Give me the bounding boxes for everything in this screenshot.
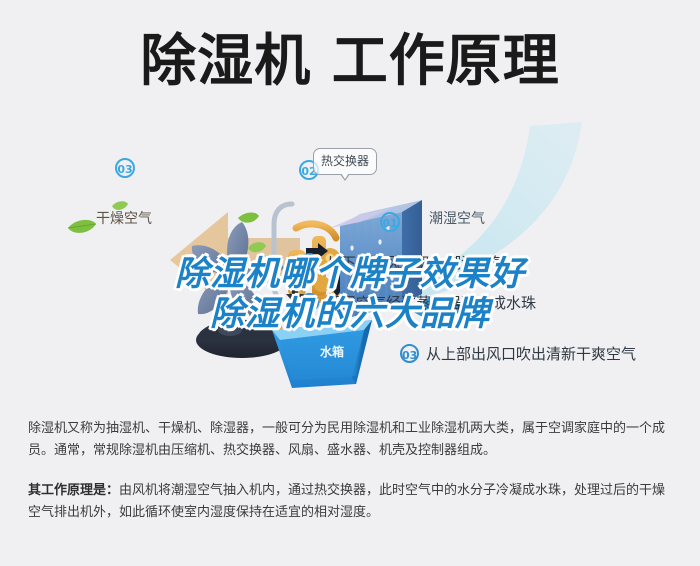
step-line-01: 01 从下部进风口吸入潮湿空气 — [300, 252, 506, 273]
step-line-02: 02 潮湿空气经过蒸发器冷凝成水珠 — [300, 292, 536, 313]
article-paragraph-2: 其工作原理是：由风机将潮湿空气抽入机内，通过热交换器，此时空气中的水分子冷凝成水… — [28, 480, 676, 524]
step-text-03: 从上部出风口吹出清新干爽空气 — [426, 343, 636, 364]
step-number-02: 02 — [300, 293, 319, 312]
step-text-02: 潮湿空气经过蒸发器冷凝成水珠 — [326, 292, 536, 313]
step-number-03: 03 — [400, 344, 419, 363]
compressor-base — [196, 318, 288, 358]
article-body: 除湿机又称为抽湿机、干燥机、除湿器，一般可分为民用除湿机和工业除湿机两大类，属于… — [28, 418, 676, 524]
heat-exchanger-callout: 热交换器 — [313, 148, 377, 175]
article-paragraph-2-lead: 其工作原理是： — [28, 483, 119, 498]
diagram-badge-dry-air: 03 — [115, 158, 135, 178]
step-number-01: 01 — [300, 253, 319, 272]
heat-exchanger-callout-label: 热交换器 — [321, 154, 369, 168]
step-line-03: 03 从上部出风口吹出清新干爽空气 — [400, 343, 636, 364]
dry-air-label: 干燥空气 — [96, 212, 152, 226]
callout-tail-icon — [340, 174, 350, 181]
water-tank-label: 水箱 — [320, 345, 344, 359]
page-title: 除湿机 工作原理 — [0, 30, 700, 94]
diagram-badge-humid-air: 01 — [380, 212, 400, 232]
article-paragraph-2-rest: 由风机将潮湿空气抽入机内，通过热交换器，此时空气中的水分子冷凝成水珠，处理过后的… — [28, 483, 665, 520]
article-paragraph-1: 除湿机又称为抽湿机、干燥机、除湿器，一般可分为民用除湿机和工业除湿机两大类，属于… — [28, 418, 676, 462]
page-title-text: 除湿机 工作原理 — [140, 30, 560, 94]
step-text-01: 从下部进风口吸入潮湿空气 — [326, 252, 506, 273]
page-root: 除湿机 工作原理 — [0, 0, 700, 566]
humid-air-label: 潮湿空气 — [429, 212, 485, 226]
